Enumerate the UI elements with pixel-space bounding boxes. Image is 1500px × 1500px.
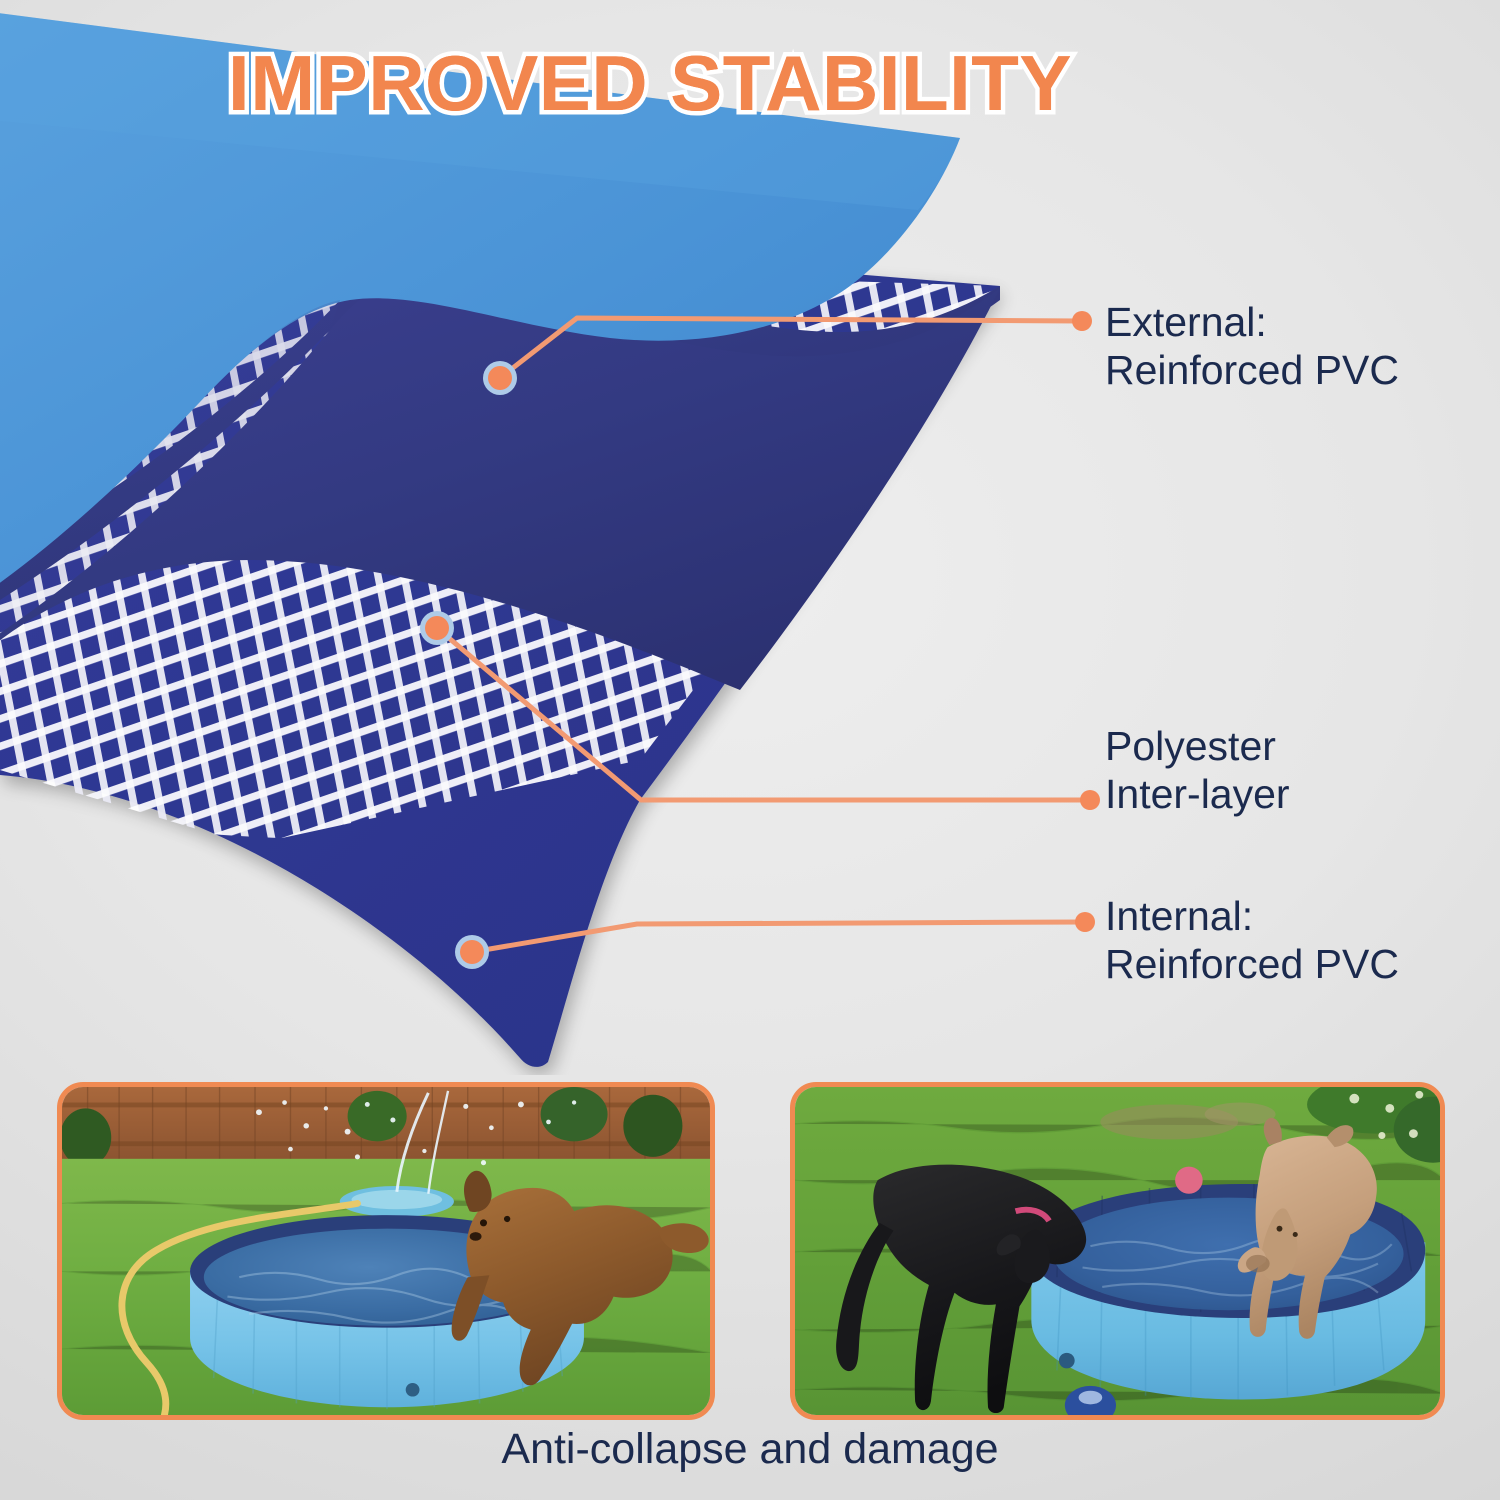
footer-caption: Anti-collapse and damage (0, 1425, 1500, 1474)
page-title: IMPROVED STABILITY (0, 38, 1300, 129)
product-photo-dog-jumping (57, 1082, 715, 1420)
callout-label-external-pvc: External: Reinforced PVC (1105, 299, 1399, 394)
callout-label-internal-pvc: Internal: Reinforced PVC (1105, 893, 1399, 988)
infographic-canvas: IMPROVED STABILITY IMPROVED STABILITY Ex… (0, 0, 1500, 1500)
callout-label-polyester-interlayer: Polyester Inter-layer (1105, 723, 1290, 818)
product-layer-illustration (0, 0, 1060, 1075)
callout-endpoint-polyester (1080, 790, 1100, 810)
callout-endpoint-external (1072, 311, 1092, 331)
product-photo-two-dogs (790, 1082, 1445, 1420)
callout-endpoint-internal (1075, 912, 1095, 932)
